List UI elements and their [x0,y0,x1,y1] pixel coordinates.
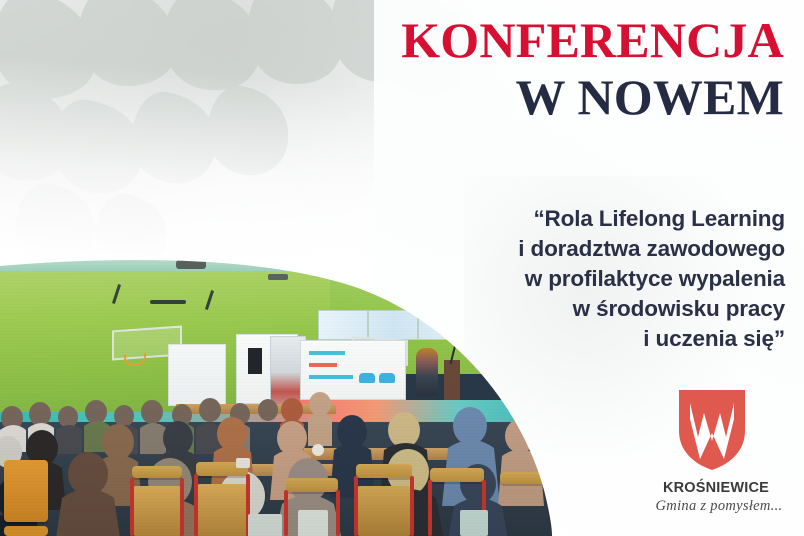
quote-line-1: “Rola Lifelong Learning [365,204,785,234]
logo-tagline: Gmina z pomysłem... [640,498,798,515]
photo-content [0,252,552,536]
headline-line-1: KONFERENCJA [284,16,784,65]
krosniewice-coat-of-arms-icon [678,389,746,471]
headline-line-2: W NOWEM [284,73,784,122]
photo-curved-mask [0,252,552,536]
conference-poster: KONFERENCJA W NOWEM “Rola Lifelong Learn… [0,0,804,536]
logo-municipality-name: KROŚNIEWICE [640,480,792,496]
krosniewice-logo: KROŚNIEWICE Gmina z pomysłem... [640,386,798,524]
poster-headline: KONFERENCJA W NOWEM [284,16,784,122]
conference-photo [0,252,552,536]
